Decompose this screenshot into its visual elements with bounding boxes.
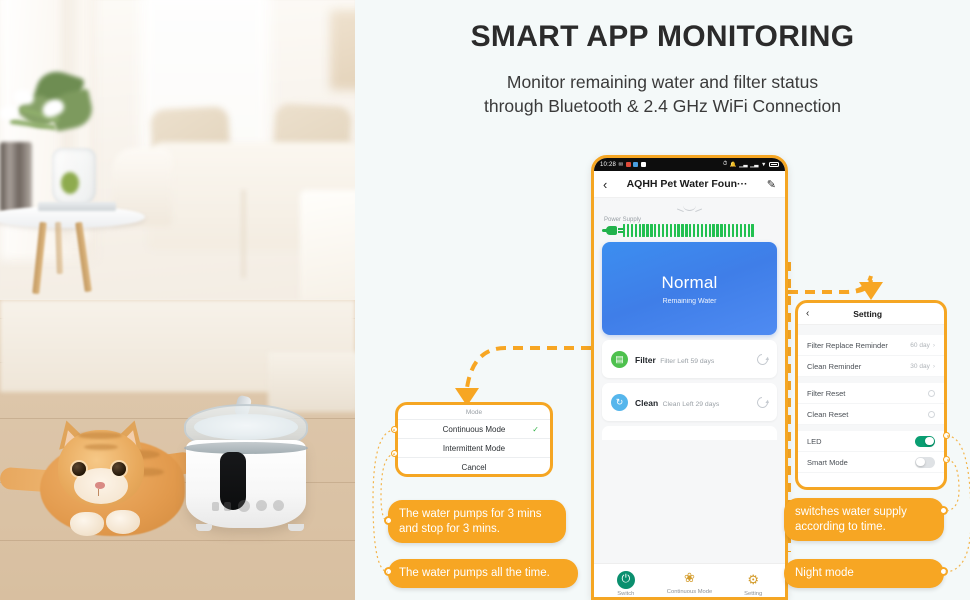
alarm-icon: ⏱ [723,161,727,168]
water-status-value: Normal [662,273,718,293]
led-toggle[interactable] [915,436,935,447]
mode-grid-icon: ❀ [681,569,699,587]
callout-night-mode: Night mode [784,559,944,588]
power-supply-indicator [594,224,785,237]
remaining-water-card[interactable]: Normal Remaining Water [602,242,777,335]
wifi-icon: ▼ [761,162,766,168]
collapse-handle[interactable] [594,198,785,216]
fountain-control-icon [238,500,250,512]
clean-icon: ↻ [611,394,628,411]
marketing-panel: SMART APP MONITORING Monitor remaining w… [355,0,970,600]
sofa-seam [242,190,245,278]
row-label: LED [807,437,915,446]
power-bar [670,224,672,237]
option-dot [391,450,398,457]
row-label: Filter Reset [807,389,928,398]
power-bar [724,224,726,237]
placeholder-card [602,426,777,440]
cat-stripe [78,432,122,439]
power-bar [650,224,652,237]
message-icon: ✉ [619,162,624,168]
fountain-control-icon [273,500,284,511]
mode-option-intermittent[interactable]: Intermittent Mode [398,438,550,457]
power-bar [732,224,734,237]
row-value: 60 day [910,342,930,349]
fountain-control-icon [224,502,231,511]
metal-vase [0,142,32,212]
mode-option-intermittent-label: Intermittent Mode [443,444,505,453]
row-label: Filter Replace Reminder [807,341,910,350]
toggle-dot [943,456,950,463]
callout-intermittent-mode: The water pumps for 3 mins and stop for … [388,500,566,543]
power-bar [693,224,695,237]
square-icon [641,162,646,167]
tab-switch[interactable]: ⏻ Switch [594,571,658,597]
tab-setting[interactable]: ⚙ Setting [721,571,785,597]
power-bar [677,224,679,237]
water-status-label: Remaining Water [663,298,717,305]
section-gap [798,325,944,335]
area-rug-edge [268,352,355,412]
gear-icon: ⚙ [744,571,762,589]
fountain-foot [288,524,304,531]
callout-dot [939,506,948,515]
tab-underline [666,597,714,598]
power-bar [681,224,683,237]
app-header: ‹ AQHH Pet Water Foun··· ✎ [594,171,785,198]
power-bar [627,224,629,237]
phone-mockup: 10:28 ✉ ⏱ 🔔 ▁▃ ▁▃ ▼ ‹ AQHH Pet Water Fou… [591,155,788,600]
row-clean-reset[interactable]: Clean Reset [798,404,944,425]
callout-dot [939,567,948,576]
power-bar [631,224,633,237]
fountain-control-icon [212,502,219,511]
power-icon: ⏻ [617,571,635,589]
mode-option-continuous-label: Continuous Mode [443,425,506,434]
callout-smart-mode: switches water supply according to time. [784,498,944,541]
bell-icon: 🔔 [730,162,737,168]
row-filter-replace-reminder[interactable]: Filter Replace Reminder 60 day › [798,335,944,356]
power-bar [654,224,656,237]
mode-option-continuous[interactable]: Continuous Mode ✓ [398,419,550,438]
filter-row[interactable]: ▤ Filter Filter Left 59 days [602,340,777,378]
power-bar [689,224,691,237]
setting-panel: ‹ Setting Filter Replace Reminder 60 day… [795,300,947,490]
row-filter-reset[interactable]: Filter Reset [798,383,944,404]
power-bar [701,224,703,237]
mode-popup: Mode Continuous Mode ✓ Intermittent Mode… [395,402,553,477]
setting-title: Setting [809,309,926,319]
clean-row[interactable]: ↻ Clean Clean Left 29 days [602,383,777,421]
power-bar [740,224,742,237]
device-title: AQHH Pet Water Foun··· [607,178,766,190]
callout-dot [384,567,393,576]
plug-icon [602,226,620,235]
filter-icon: ▤ [611,351,628,368]
power-bar [716,224,718,237]
setting-header: ‹ Setting [798,303,944,325]
power-bar [744,224,746,237]
cat-eye [72,462,86,476]
row-smart-mode[interactable]: Smart Mode [798,452,944,473]
power-supply-label: Power Supply [604,217,785,223]
app-icon [626,162,631,167]
signal-icon: ▁▃ [750,162,758,168]
bottom-tab-bar: ⏻ Switch ❀ Continuous Mode ⚙ Setting [594,563,785,600]
chevron-right-icon: › [933,342,935,349]
callout-continuous-mode: The water pumps all the time. [388,559,578,588]
clean-desc: Clean Left 29 days [663,401,720,408]
app-body: Power Supply Normal Remaining Water ▤ Fi… [594,198,785,600]
cat-nose [95,482,105,489]
row-clean-reminder[interactable]: Clean Reminder 30 day › [798,356,944,377]
subtitle-line-2: through Bluetooth & 2.4 GHz WiFi Connect… [355,94,970,118]
circle-icon[interactable] [928,390,935,397]
power-bar [674,224,676,237]
clean-name: Clean [635,398,658,408]
power-bar [623,224,625,237]
row-label: Clean Reminder [807,362,910,371]
circle-icon[interactable] [928,411,935,418]
cat-eye [112,462,126,476]
cat-stripe [84,444,118,450]
toggle-dot [943,432,950,439]
cat-mouth [98,489,102,496]
row-led[interactable]: LED [798,431,944,452]
power-bar [736,224,738,237]
callout-dot [384,516,393,525]
page-subtitle: Monitor remaining water and filter statu… [355,70,970,118]
check-icon: ✓ [532,425,539,434]
power-bar [748,224,750,237]
power-bar [635,224,637,237]
cancel-button[interactable]: Cancel [398,457,550,476]
power-level-bars [623,224,777,237]
subtitle-line-1: Monitor remaining water and filter statu… [355,70,970,94]
wall-frame [330,10,355,90]
row-label: Clean Reset [807,410,928,419]
cat-paw [106,510,140,534]
power-bar [720,224,722,237]
row-label: Smart Mode [807,458,915,467]
page-title: SMART APP MONITORING [355,20,970,54]
pencil-icon[interactable]: ✎ [767,178,776,191]
phone-status-bar: 10:28 ✉ ⏱ 🔔 ▁▃ ▁▃ ▼ [594,158,785,171]
floor-plank-line [0,540,355,541]
tab-switch-label: Switch [594,591,658,597]
refresh-icon[interactable] [755,394,770,409]
power-bar [751,224,753,237]
signal-icon: ▁▃ [739,162,747,168]
filter-desc: Filter Left 59 days [660,358,714,365]
chevron-down-icon [683,204,696,211]
power-bar [709,224,711,237]
pitcher-contents [61,172,79,194]
option-dot [391,426,398,433]
power-bar [646,224,648,237]
power-bar [697,224,699,237]
throw-blanket [300,190,355,310]
tab-mode-label: Continuous Mode [658,589,722,595]
power-bar [639,224,641,237]
smart-mode-toggle[interactable] [915,457,935,468]
power-bar [666,224,668,237]
row-value: 30 day [910,363,930,370]
tray [38,202,116,211]
fountain-foot [196,524,212,531]
filter-name: Filter [635,355,656,365]
power-bar [658,224,660,237]
power-bar [662,224,664,237]
battery-icon [769,162,779,168]
refresh-icon[interactable] [755,351,770,366]
tab-setting-label: Setting [721,591,785,597]
fountain-control-icon [256,500,267,511]
power-bar [705,224,707,237]
fountain-water [194,414,298,440]
mode-popup-title: Mode [398,405,550,419]
chevron-right-icon: › [933,363,935,370]
power-bar [685,224,687,237]
photo-icon [633,162,638,167]
fountain-rim [184,442,308,454]
status-time: 10:28 [600,162,616,168]
power-bar [712,224,714,237]
power-bar [642,224,644,237]
tab-continuous-mode[interactable]: ❀ Continuous Mode [658,569,722,598]
product-lifestyle-photo [0,0,355,600]
cat-paw [70,512,104,536]
power-bar [728,224,730,237]
